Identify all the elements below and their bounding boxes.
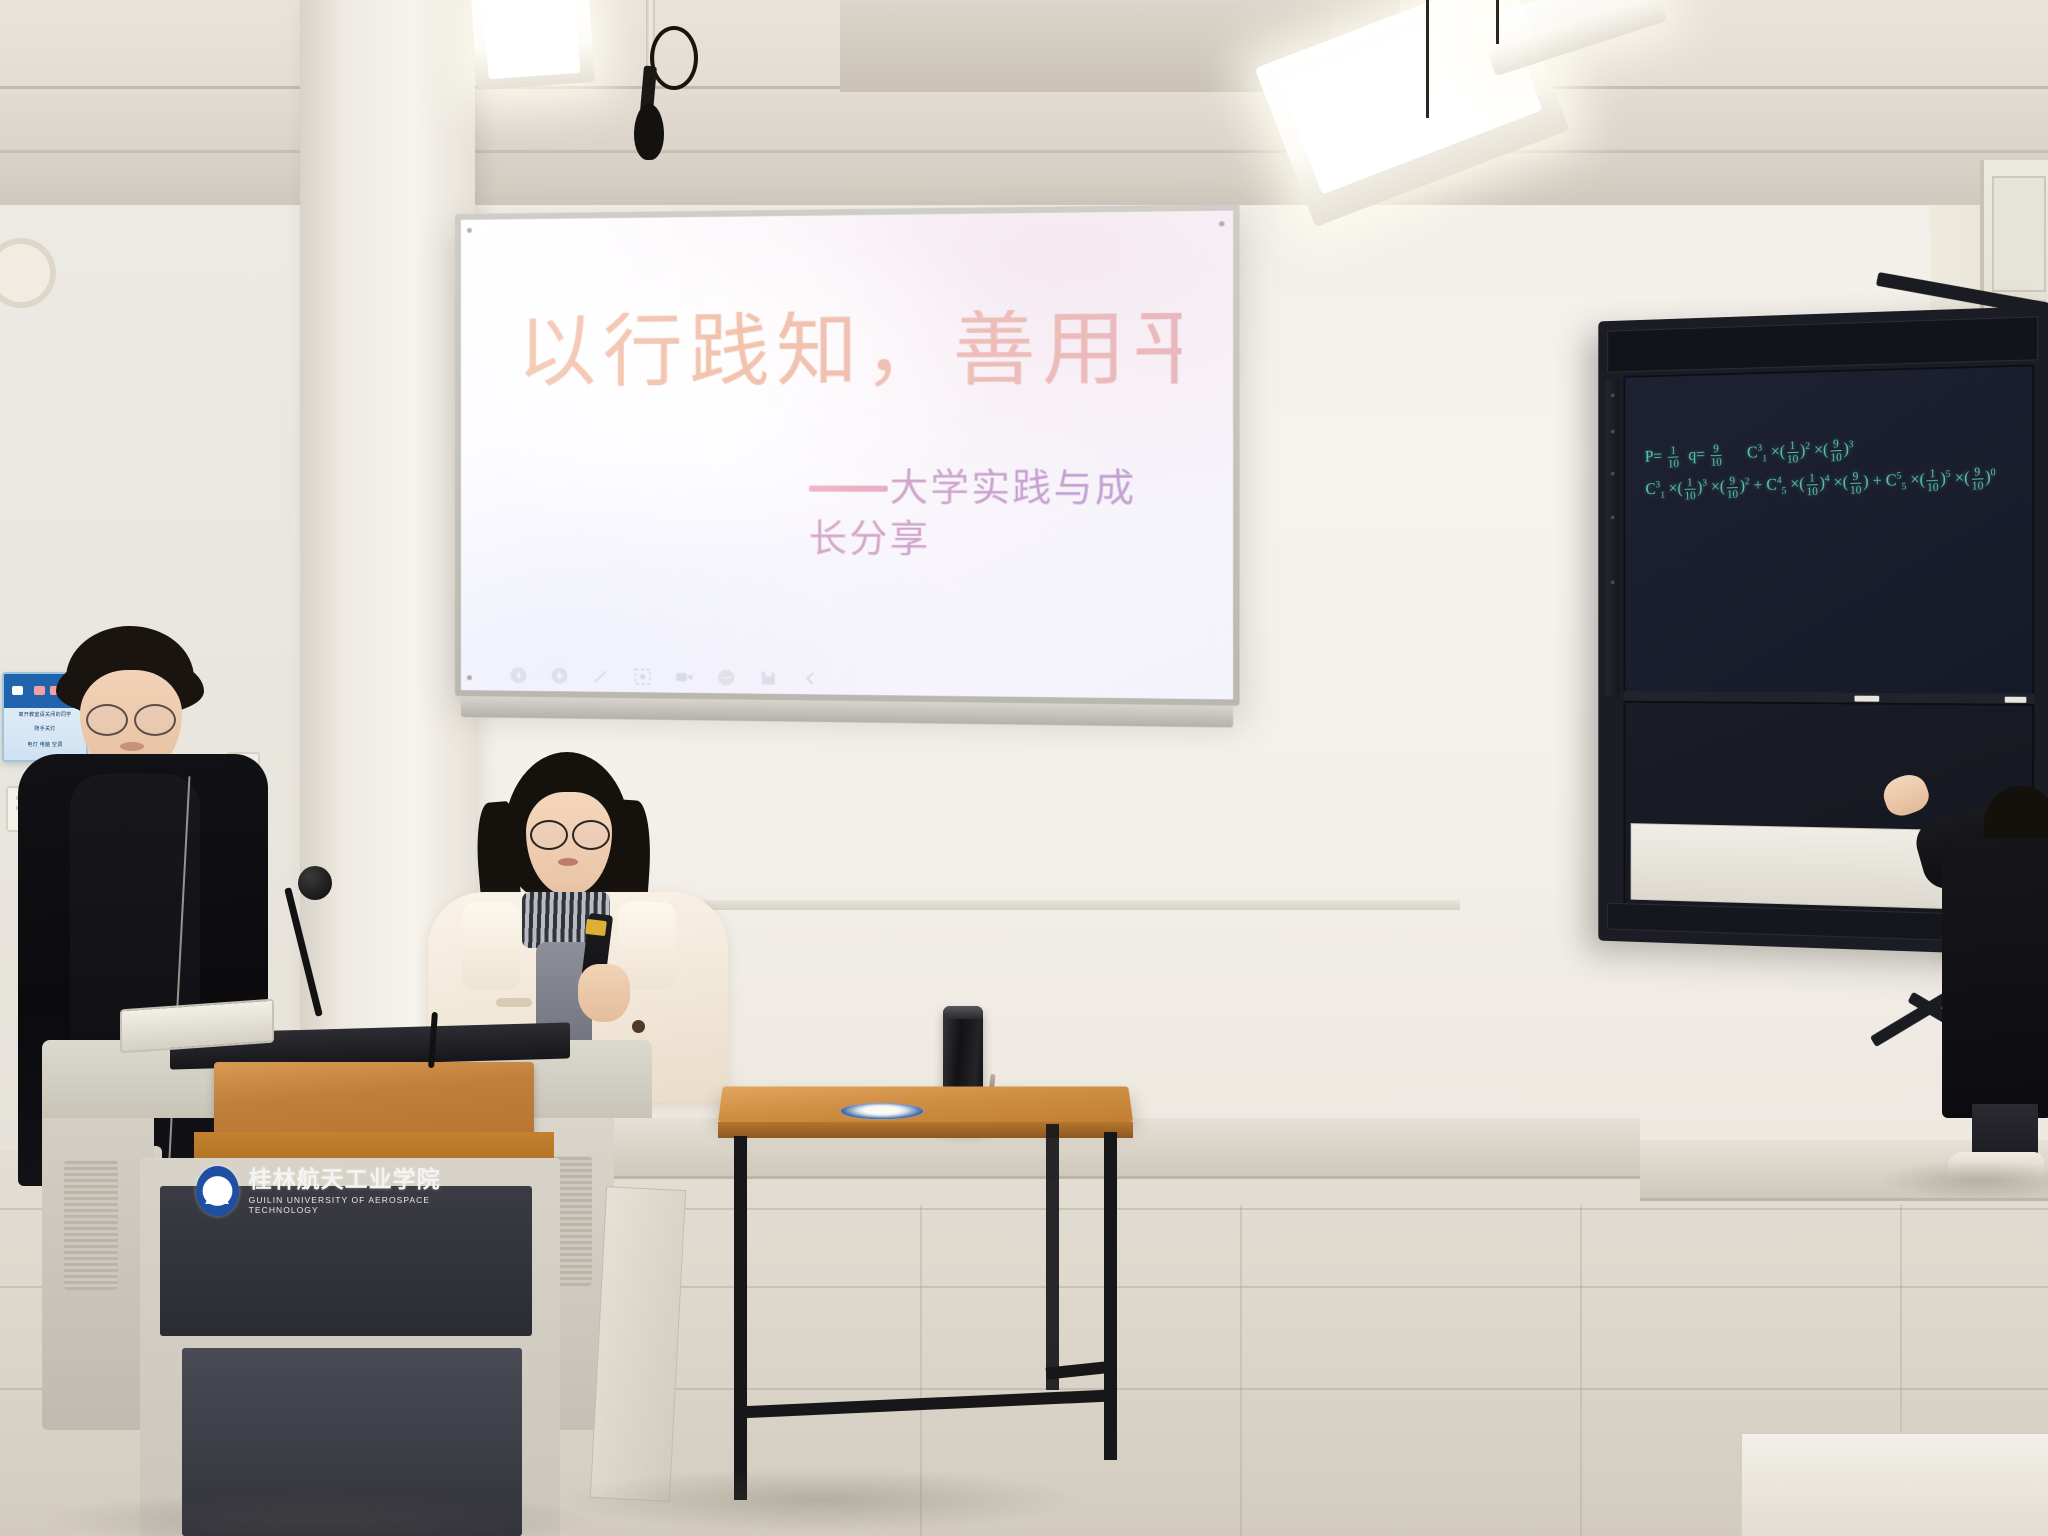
university-name-en: GUILIN UNIVERSITY OF AEROSPACE TECHNOLOG… xyxy=(249,1195,466,1215)
table-leg xyxy=(1046,1124,1059,1390)
microphone-head xyxy=(298,866,332,900)
speaker-grille xyxy=(64,1160,118,1290)
glasses xyxy=(134,704,176,736)
classroom-scene: 离开教室请关闭的同学 随手关灯 电灯 电脑 空调 以行践知，善用平台 大学实践与… xyxy=(0,0,2048,1536)
hanging-microphone xyxy=(634,104,664,160)
table-leg xyxy=(734,1136,747,1500)
glasses xyxy=(572,820,610,850)
whiteboard-projection-screen: 以行践知，善用平台 大学实践与成 长分享 xyxy=(455,204,1240,705)
podium-wood-desktop xyxy=(214,1062,534,1142)
pen-icon[interactable] xyxy=(592,666,611,685)
glasses xyxy=(530,820,568,850)
slide-title: 以行践知，善用平台 xyxy=(517,309,1181,396)
blackboard-side-strip xyxy=(1605,380,1619,695)
slide-subtitle-line-2: 长分享 xyxy=(809,519,931,561)
subtitle-dash xyxy=(809,485,888,491)
lectern-podium[interactable] xyxy=(42,1040,652,1536)
wooden-table-top xyxy=(718,1086,1133,1122)
university-seal-icon xyxy=(196,1166,239,1216)
play-icon[interactable] xyxy=(551,666,570,685)
blackboard-screen[interactable]: P= 110 q= 910 C31 ×(110)2 ×(910)3 C31 ×(… xyxy=(1623,364,2034,698)
ceiling-cable xyxy=(1426,0,1429,118)
slide-subtitle-line-1: 大学实践与成 xyxy=(890,469,1137,512)
back-icon[interactable] xyxy=(509,666,528,685)
thermos-cap xyxy=(943,1006,983,1019)
table-emblem-sticker xyxy=(839,1103,925,1120)
table-shadow xyxy=(560,1468,1080,1532)
slide-toolbar[interactable] xyxy=(509,666,820,689)
ceiling-light xyxy=(471,0,595,90)
torso xyxy=(1942,838,2048,1118)
microphone-label xyxy=(585,919,607,936)
table-edge xyxy=(718,1122,1133,1138)
student-at-blackboard xyxy=(1918,742,2048,1182)
lapel xyxy=(462,902,520,990)
chalk-equations: P= 110 q= 910 C31 ×(110)2 ×(910)3 C31 ×(… xyxy=(1645,424,2035,507)
presentation-slide: 以行践知，善用平台 大学实践与成 长分享 xyxy=(461,211,1233,700)
mouth xyxy=(558,858,578,866)
university-name-cn: 桂林航天工业学院 xyxy=(249,1168,466,1191)
floor-tile-line xyxy=(1580,1205,1582,1536)
slide-subtitle: 大学实践与成 长分享 xyxy=(809,465,1217,569)
select-icon[interactable] xyxy=(633,667,652,686)
board-surface: 以行践知，善用平台 大学实践与成 长分享 xyxy=(461,211,1233,700)
coat-button xyxy=(632,1020,645,1033)
hand xyxy=(578,964,630,1022)
glasses xyxy=(86,704,128,736)
mouth xyxy=(120,742,144,751)
leaning-board xyxy=(590,1186,686,1502)
save-icon[interactable] xyxy=(759,668,779,688)
floor-tile-line xyxy=(1240,1205,1242,1536)
window-pane xyxy=(1992,176,2046,292)
floor-equipment-panel xyxy=(1740,1432,2048,1536)
table-leg xyxy=(1104,1132,1117,1460)
mic-cable xyxy=(650,26,698,90)
collapse-icon[interactable] xyxy=(801,669,821,689)
more-icon[interactable] xyxy=(717,668,736,687)
podium-logo: 桂林航天工业学院 GUILIN UNIVERSITY OF AEROSPACE … xyxy=(196,1160,466,1222)
ceiling-cable xyxy=(1496,0,1499,44)
coat-toggle xyxy=(496,998,532,1007)
video-icon[interactable] xyxy=(675,667,694,686)
